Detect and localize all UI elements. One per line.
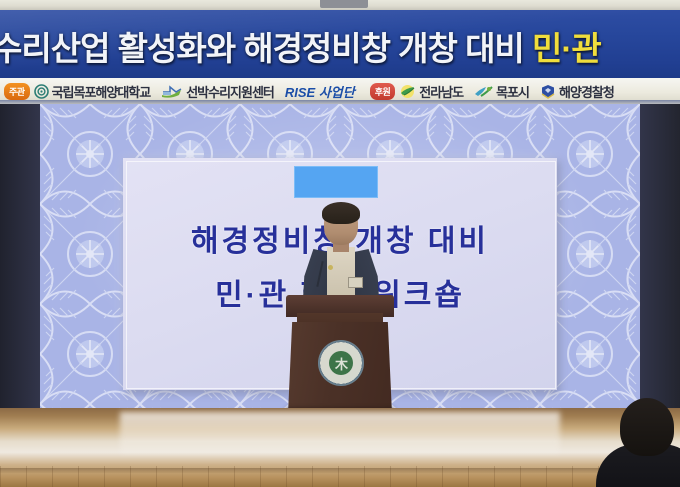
badge-sponsor: 후원 (370, 83, 396, 100)
badge-host: 주관 (4, 83, 30, 100)
banner-text: 수리산업 활성화와 해경정비창 개창 대비 민·관 (0, 22, 680, 70)
speaker-shirt (327, 247, 355, 297)
speaker-hair (322, 202, 360, 224)
sponsor-korea-coast-guard: 해양경찰청 (540, 82, 614, 101)
sponsor-name: 국립목포해양대학교 (52, 82, 151, 101)
banner-main-text: 수리산업 활성화와 해경정비창 개창 대비 (0, 30, 524, 67)
audience-head (620, 398, 674, 456)
sponsor-name: 전라남도 (419, 82, 463, 101)
sponsor-name: RISE 사업단 (285, 82, 355, 101)
event-banner: 수리산업 활성화와 해경정비창 개창 대비 민·관 (0, 10, 680, 78)
floor-planks (0, 466, 680, 487)
sponsor-name: 해양경찰청 (559, 82, 614, 101)
sponsor-jeollanamdo: 전라남도 (399, 82, 463, 101)
ceiling-fixture (320, 0, 368, 8)
slide-accent-block (294, 166, 378, 198)
photo-scene: 수리산업 활성화와 해경정비창 개창 대비 민·관 주관 국립목포해양대학교 선… (0, 0, 680, 487)
sponsor-name: 선박수리지원센터 (186, 82, 274, 101)
sponsor-bar: 주관 국립목포해양대학교 선박수리지원센터 RISE 사업단 후원 (0, 78, 680, 104)
stage-floor (0, 408, 680, 487)
mokpo-city-emblem-icon: 木 (318, 340, 364, 386)
sponsor-mokpo-city: 목포시 (474, 82, 529, 101)
sponsor-national-mokpo-maritime-university: 국립목포해양대학교 (34, 82, 151, 101)
left-wall-panel (0, 104, 40, 408)
audience-member (612, 398, 680, 487)
speaker-lapel-pin (328, 265, 333, 270)
coast-guard-shield-icon (540, 84, 556, 99)
podium-emblem-glyph: 木 (329, 351, 353, 375)
sponsor-rise-project-group: RISE 사업단 (285, 82, 355, 101)
floor-reflection (120, 412, 560, 456)
university-ring-icon (34, 84, 49, 99)
banner-highlight-text: 민·관 (532, 30, 601, 67)
right-wall-panel (640, 104, 680, 408)
ceiling-strip (0, 0, 680, 10)
ship-repair-center-icon (161, 84, 183, 99)
mokpo-city-icon (474, 84, 493, 99)
sponsor-ship-repair-support-center: 선박수리지원센터 (161, 82, 274, 101)
speaker-name-badge (348, 277, 363, 288)
jeollanamdo-icon (399, 84, 416, 99)
sponsor-name: 목포시 (496, 82, 529, 101)
